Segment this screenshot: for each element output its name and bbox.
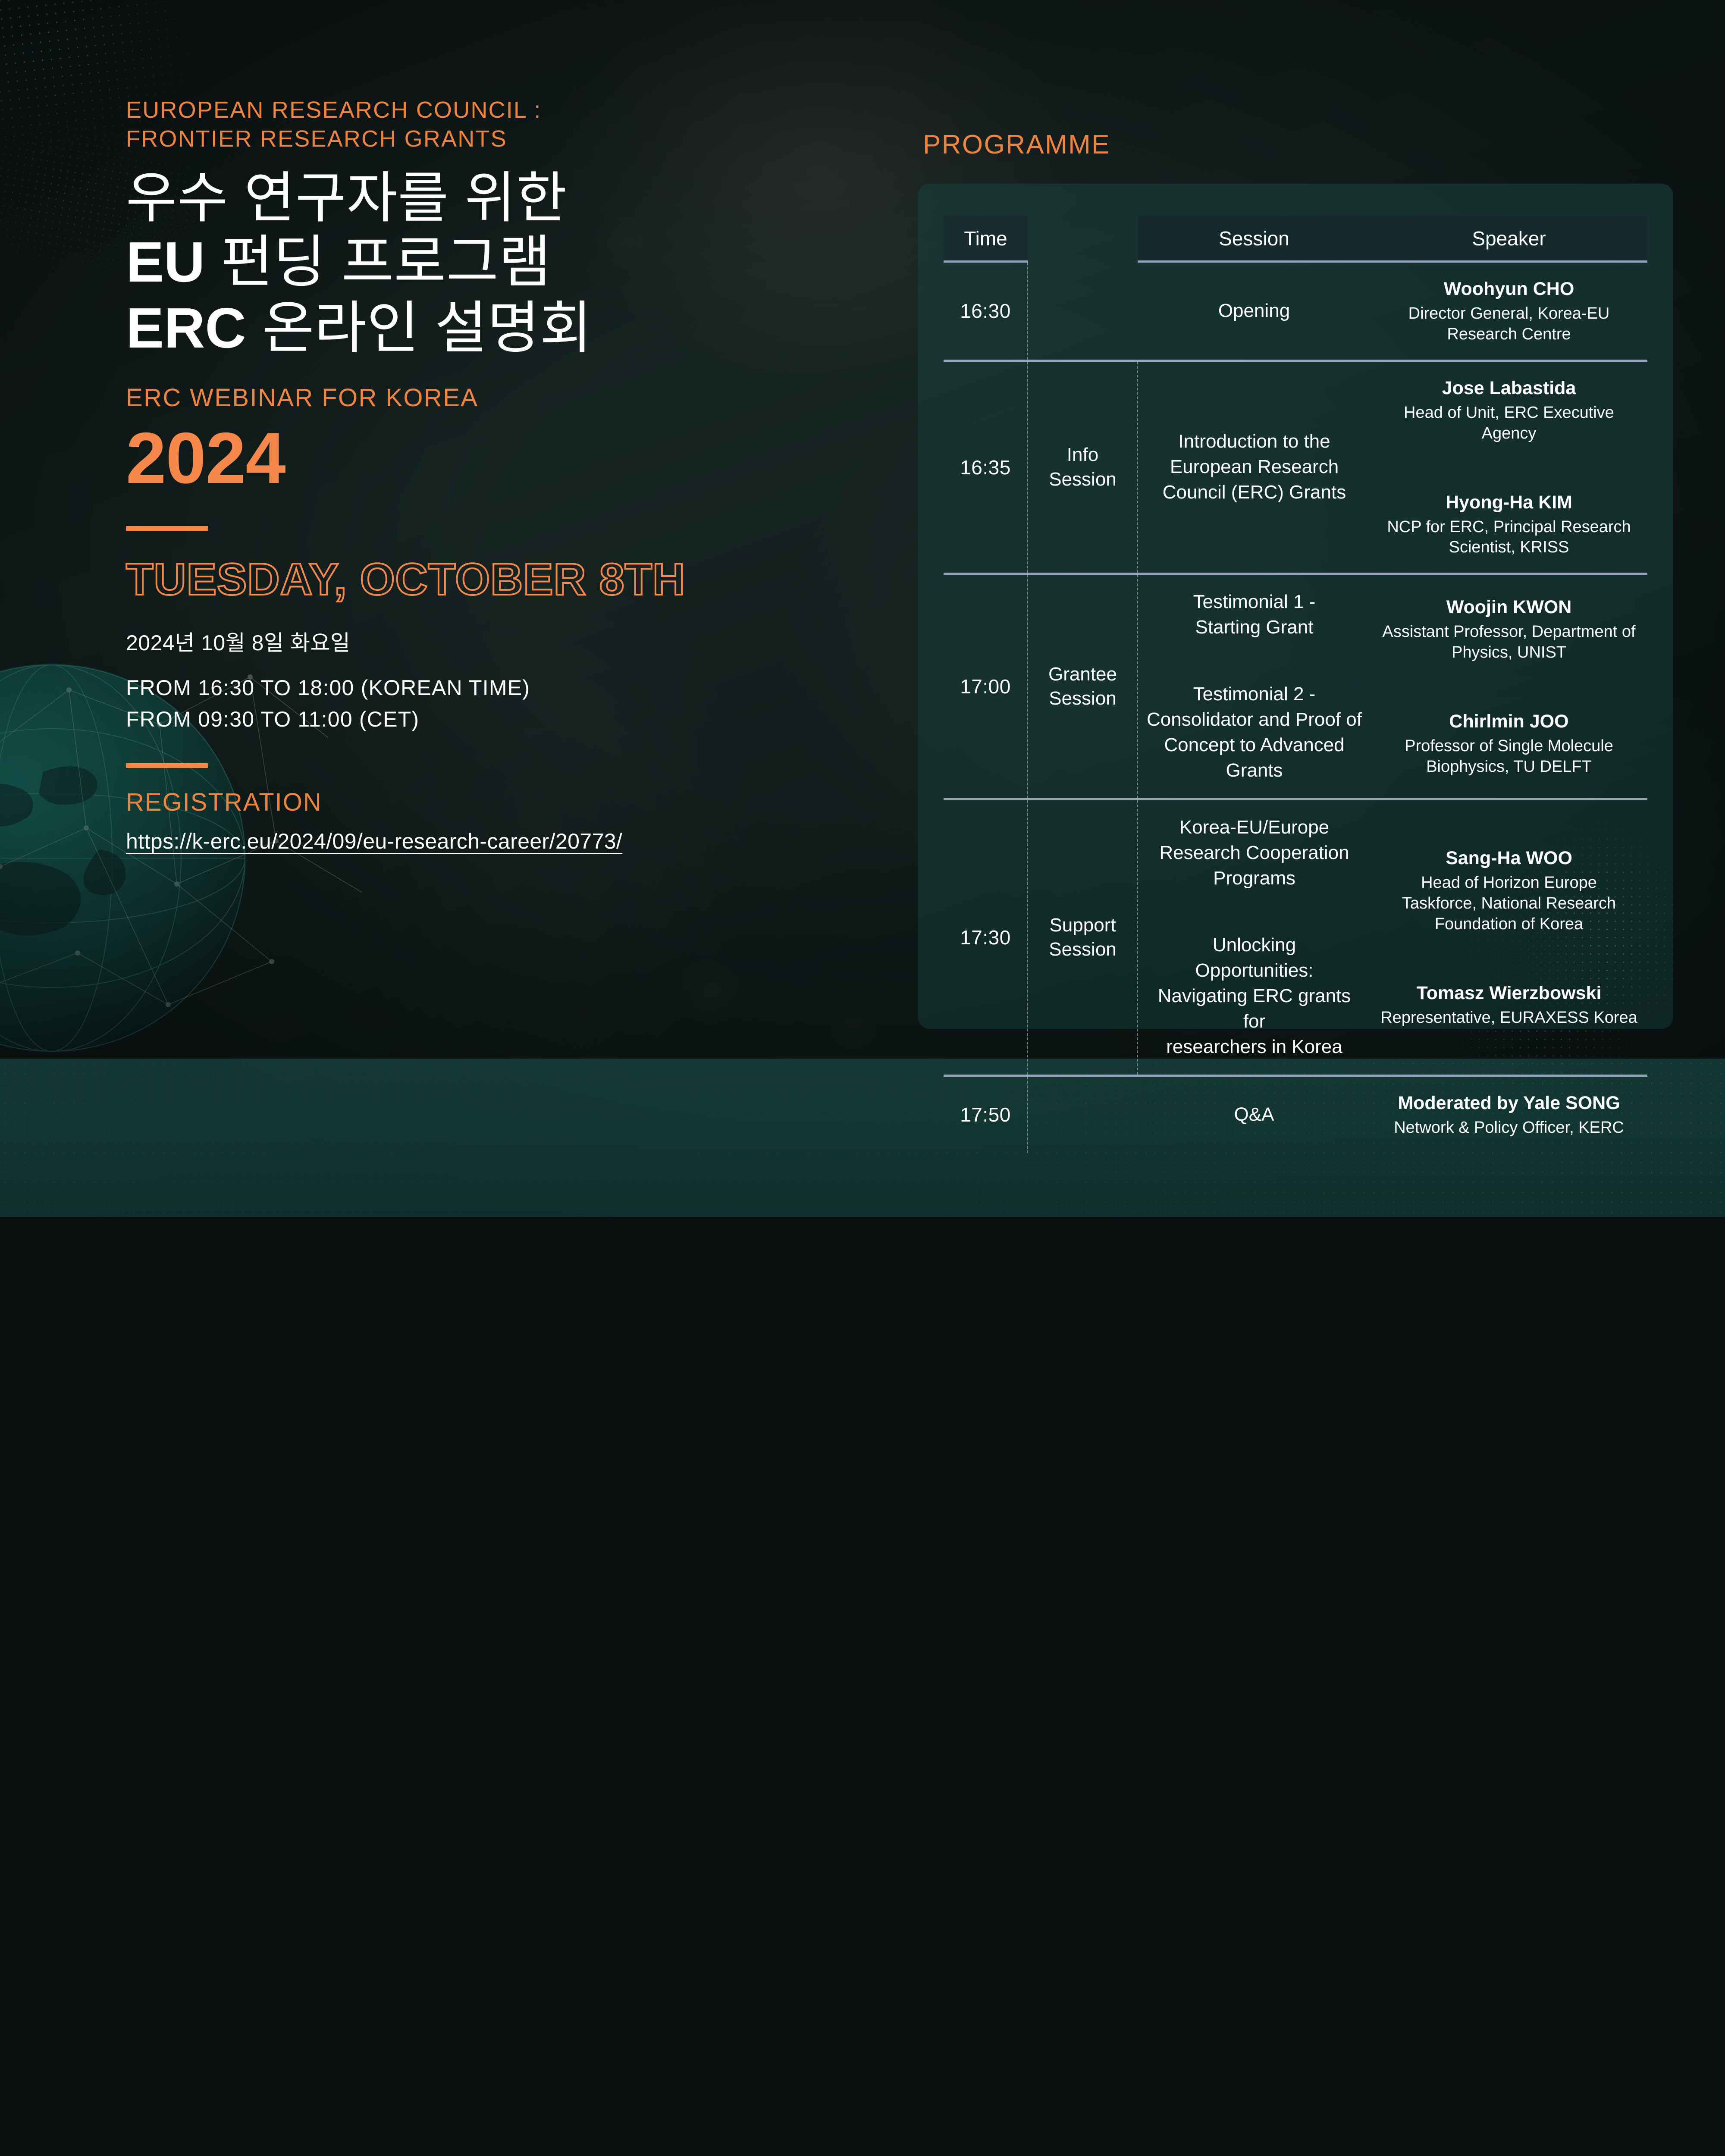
cell-session: Introduction to the European Research Co… — [1138, 360, 1371, 574]
column-header-time: Time — [944, 216, 1028, 262]
speaker-role: NCP for ERC, Principal Research Scientis… — [1377, 517, 1641, 558]
session-block: Korea-EU/Europe Research Cooperation Pro… — [1144, 815, 1364, 891]
table-row: 16:35Info SessionIntroduction to the Eur… — [944, 360, 1647, 574]
speaker-block: Jose LabastidaHead of Unit, ERC Executiv… — [1377, 376, 1641, 444]
partner-logos: KER Korea-EU Research Centre euraxess RE… — [0, 1104, 1725, 1203]
cell-speaker: Sang-Ha WOOHead of Horizon Europe Taskfo… — [1371, 799, 1647, 1076]
title-line-1: 우수 연구자를 위한 — [126, 167, 567, 229]
speaker-block: Tomasz WierzbowskiRepresentative, EURAXE… — [1377, 981, 1641, 1028]
session-subtitle: Consolidator and Proof of Concept to Adv… — [1144, 707, 1364, 783]
title-line-2-lead: EU — [126, 230, 205, 294]
cell-session-type: Grantee Session — [1028, 574, 1138, 799]
session-title: Introduction to the European Research Co… — [1144, 429, 1364, 505]
session-title: Testimonial 1 - — [1144, 589, 1364, 615]
session-title: Opening — [1144, 298, 1364, 324]
title-line-3-lead: ERC — [126, 296, 246, 360]
column-header-speaker: Speaker — [1371, 216, 1647, 262]
table-row: 16:30OpeningWoohyun CHODirector General,… — [944, 262, 1647, 361]
cell-session-type — [1028, 262, 1138, 361]
cell-session: Testimonial 1 -Starting GrantTestimonial… — [1138, 574, 1371, 799]
cell-session-type: Info Session — [1028, 360, 1138, 574]
event-date-headline: TUESDAY, OCTOBER 8TH — [126, 555, 885, 604]
speaker-role: Professor of Single Molecule Biophysics,… — [1377, 736, 1641, 777]
session-title: Unlocking Opportunities: — [1144, 933, 1364, 984]
session-subtitle: Starting Grant — [1144, 615, 1364, 640]
speaker-block: Woohyun CHODirector General, Korea-EU Re… — [1377, 277, 1641, 345]
cell-time: 17:00 — [944, 574, 1028, 799]
registration-label: REGISTRATION — [126, 788, 885, 817]
speaker-name: Woojin KWON — [1377, 595, 1641, 619]
table-header-row: Time Session Speaker — [944, 216, 1647, 262]
speaker-block: Chirlmin JOOProfessor of Single Molecule… — [1377, 710, 1641, 777]
speaker-name: Tomasz Wierzbowski — [1377, 981, 1641, 1005]
table-row: 17:00Grantee SessionTestimonial 1 -Start… — [944, 574, 1647, 799]
column-header-session: Session — [1138, 216, 1371, 262]
cell-session-type: Support Session — [1028, 799, 1138, 1076]
session-title: Testimonial 2 - — [1144, 682, 1364, 707]
programme-table: Time Session Speaker 16:30OpeningWoohyun… — [944, 216, 1647, 1153]
event-date-korean: 2024년 10월 8일 화요일 — [126, 626, 885, 657]
column-header-spacer — [1028, 216, 1138, 262]
cell-time: 16:35 — [944, 360, 1028, 574]
speaker-role: Head of Unit, ERC Executive Agency — [1377, 403, 1641, 444]
cell-speaker: Jose LabastidaHead of Unit, ERC Executiv… — [1371, 360, 1647, 574]
main-title: 우수 연구자를 위한 EU 펀딩 프로그램 ERC 온라인 설명회 — [126, 168, 885, 361]
session-title: Korea-EU/Europe Research Cooperation Pro… — [1144, 815, 1364, 891]
title-line-2-rest: 펀딩 프로그램 — [205, 230, 551, 294]
speaker-block: Woojin KWONAssistant Professor, Departme… — [1377, 595, 1641, 663]
divider-rule-top — [126, 526, 208, 531]
speaker-role: Assistant Professor, Department of Physi… — [1377, 622, 1641, 663]
title-line-3-rest: 온라인 설명회 — [246, 296, 592, 360]
speaker-role: Director General, Korea-EU Research Cent… — [1377, 304, 1641, 345]
session-subtitle: Navigating ERC grants for researchers in… — [1144, 984, 1364, 1060]
programme-heading: PROGRAMME — [923, 129, 1110, 160]
registration-link[interactable]: https://k-erc.eu/2024/09/eu-research-car… — [126, 829, 622, 854]
year-text: 2024 — [126, 422, 885, 494]
session-block: Opening — [1144, 298, 1364, 324]
session-block: Unlocking Opportunities:Navigating ERC g… — [1144, 933, 1364, 1060]
speaker-name: Woohyun CHO — [1377, 277, 1641, 301]
session-block: Testimonial 1 -Starting Grant — [1144, 589, 1364, 640]
speaker-name: Chirlmin JOO — [1377, 710, 1641, 733]
speaker-block: Hyong-Ha KIMNCP for ERC, Principal Resea… — [1377, 491, 1641, 558]
cell-speaker: Woohyun CHODirector General, Korea-EU Re… — [1371, 262, 1647, 361]
cell-speaker: Woojin KWONAssistant Professor, Departme… — [1371, 574, 1647, 799]
cell-time: 17:30 — [944, 799, 1028, 1076]
subtitle-text: ERC WEBINAR FOR KOREA — [126, 383, 885, 412]
speaker-role: Head of Horizon Europe Taskforce, Nation… — [1377, 873, 1641, 935]
eyebrow-text: EUROPEAN RESEARCH COUNCIL : FRONTIER RES… — [126, 96, 885, 154]
session-block: Introduction to the European Research Co… — [1144, 429, 1364, 505]
table-row: 17:30Support SessionKorea-EU/Europe Rese… — [944, 799, 1647, 1076]
cell-session: Korea-EU/Europe Research Cooperation Pro… — [1138, 799, 1371, 1076]
session-block: Testimonial 2 -Consolidator and Proof of… — [1144, 682, 1364, 783]
speaker-name: Jose Labastida — [1377, 376, 1641, 400]
cell-time: 16:30 — [944, 262, 1028, 361]
speaker-name: Sang-Ha WOO — [1377, 846, 1641, 870]
speaker-role: Representative, EURAXESS Korea — [1377, 1008, 1641, 1028]
left-content-column: EUROPEAN RESEARCH COUNCIL : FRONTIER RES… — [126, 0, 885, 854]
divider-rule-bottom — [126, 763, 208, 768]
cell-session: Opening — [1138, 262, 1371, 361]
event-times: FROM 16:30 TO 18:00 (KOREAN TIME) FROM 0… — [126, 672, 885, 735]
speaker-block: Sang-Ha WOOHead of Horizon Europe Taskfo… — [1377, 846, 1641, 935]
speaker-name: Hyong-Ha KIM — [1377, 491, 1641, 514]
